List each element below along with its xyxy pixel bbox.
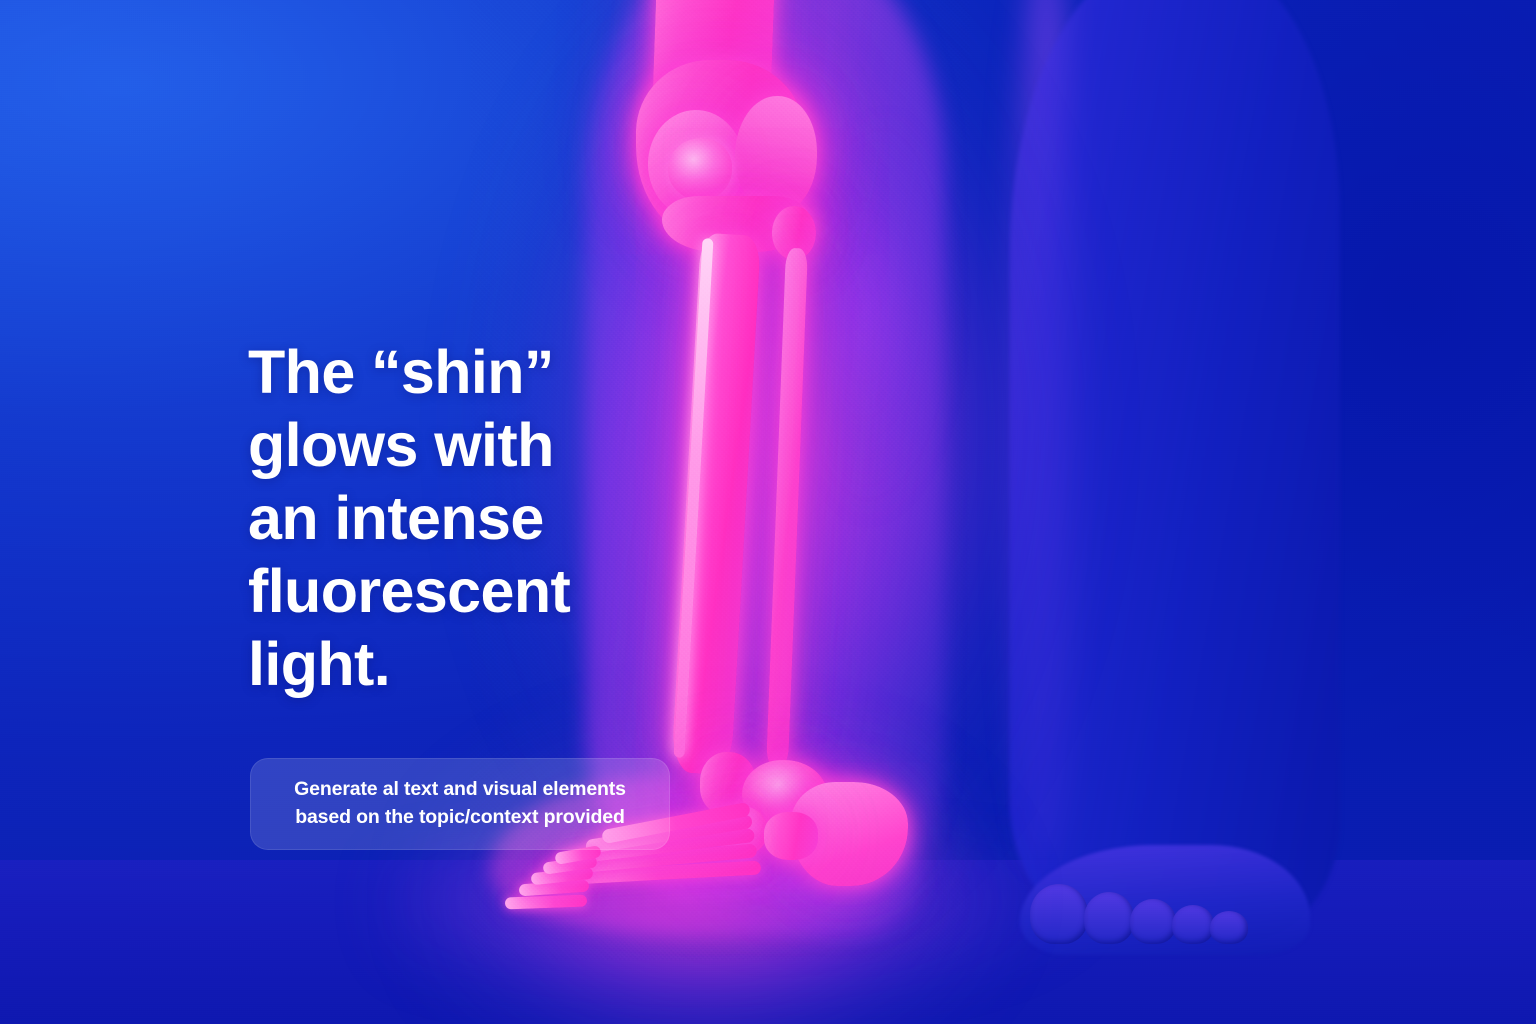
poster-canvas: The “shin” glows with an intense fluores… (0, 0, 1536, 1024)
image-grain-overlay (0, 0, 1536, 1024)
page-title: The “shin” glows with an intense fluores… (248, 336, 668, 701)
caption-badge: Generate al text and visual elements bas… (250, 758, 670, 850)
